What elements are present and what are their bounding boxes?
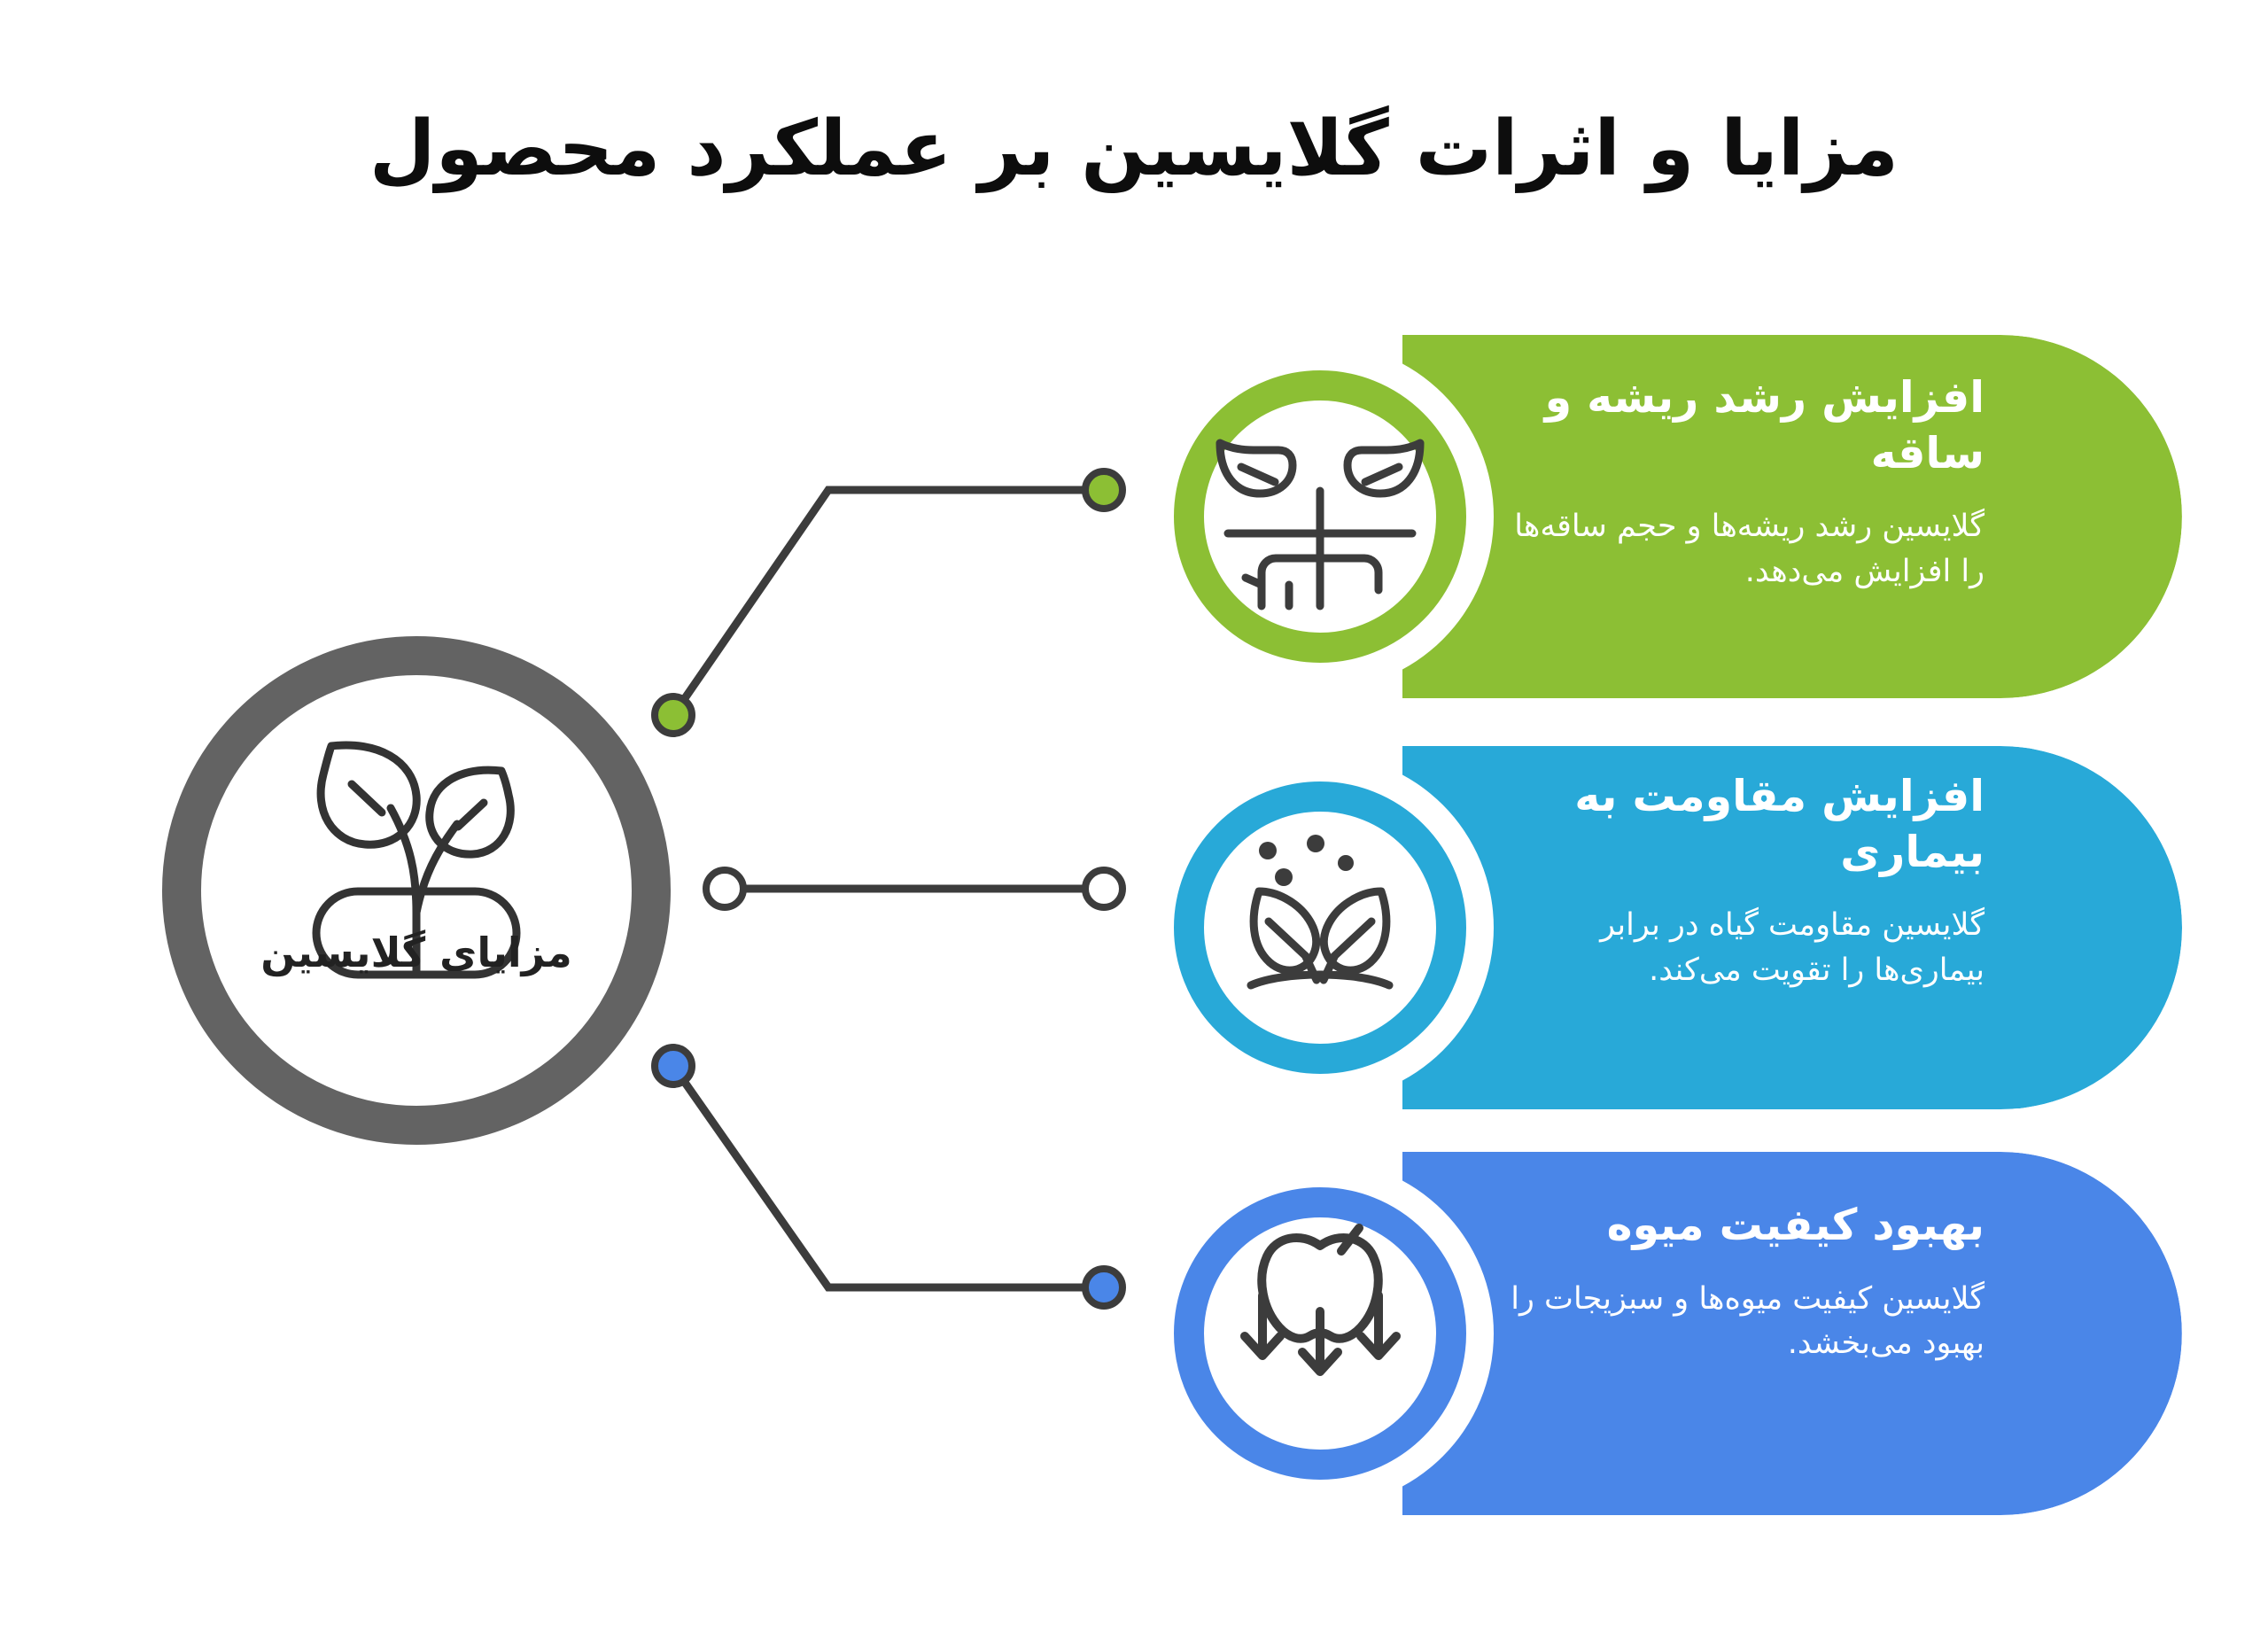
card-text-fruit-quality: بهبود کیفیت میوه گلایسین کیفیت میوه‌ها و… [1488,1198,1984,1366]
node-hub-card-1 [655,696,692,734]
card-body-text-fruit-quality: گلایسین کیفیت میوه‌ها و سبزیجات را بهبود… [1488,1277,1984,1367]
node-card-1 [1085,471,1122,509]
infographic-canvas: مزایا و اثرات گلایسین بر عملکرد محصول [0,0,2268,1625]
hub-label: مزایای گلایسین [230,929,602,976]
connector-card-1 [673,490,1099,715]
connector-card-3 [673,1066,1099,1287]
card-text-root-stem-growth: افزایش رشد ریشه و ساقه گلایسین رشد ریشه‌… [1488,370,1984,595]
card-text-disease-resistance: افزایش مقاومت به بیماری گلایسین مقاومت گ… [1488,769,1984,993]
node-hub-card-3 [655,1047,692,1085]
card-body-text-disease-resistance: گلایسین مقاومت گیاه در برابر بیماری‌ها ر… [1488,903,1984,993]
card-title-fruit-quality: بهبود کیفیت میوه [1488,1198,1984,1254]
node-card-2 [1085,870,1122,907]
node-card-3 [1085,1269,1122,1306]
card-title-root-stem-growth: افزایش رشد ریشه و ساقه [1488,370,1984,481]
card-title-disease-resistance: افزایش مقاومت به بیماری [1488,769,1984,880]
card-body-text-root-stem-growth: گلایسین رشد ریشه‌ها و حجم ساقه‌ها را افز… [1488,504,1984,595]
node-hub-card-2 [706,870,743,907]
